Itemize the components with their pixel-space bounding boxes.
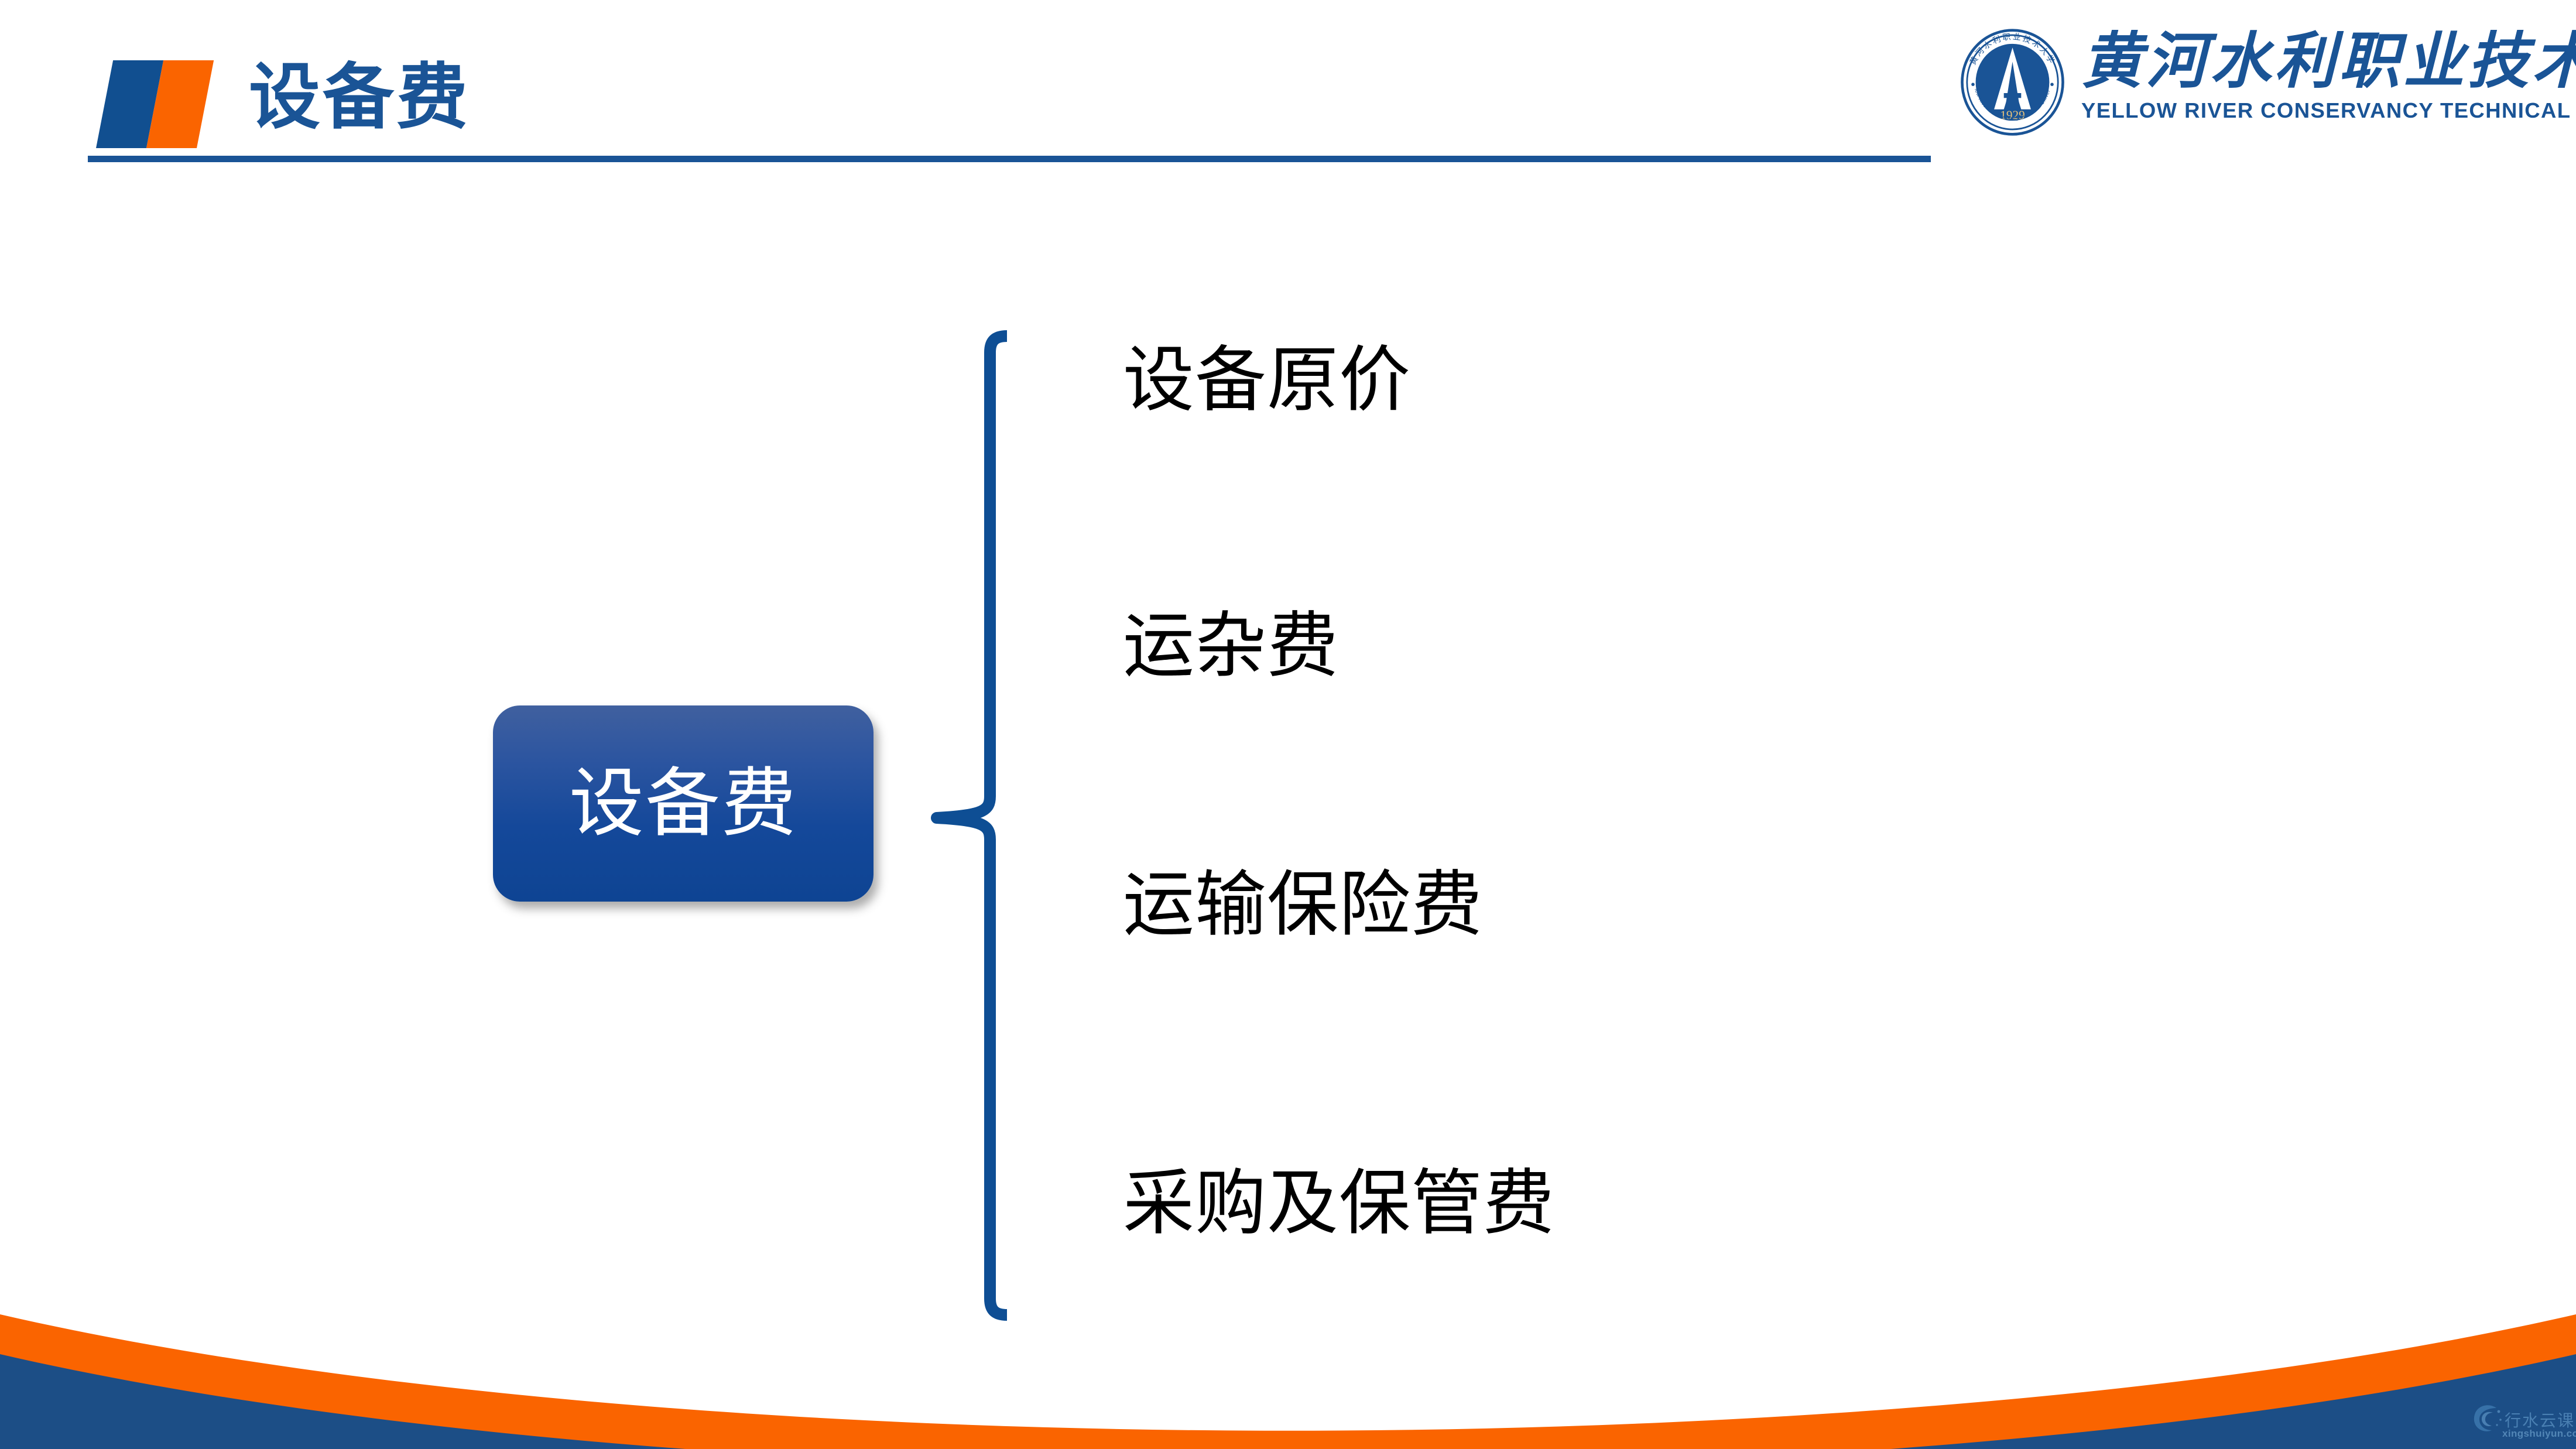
list-item[interactable]: 采购及保管费 bbox=[1123, 1167, 1555, 1239]
university-name-cn: 黄河水利职业技术大学 bbox=[2081, 29, 2550, 95]
list-item[interactable]: 设备原价 bbox=[1123, 344, 1411, 416]
diagram-root-label: 设备费 bbox=[569, 766, 797, 841]
header-divider bbox=[88, 156, 1931, 162]
footer-swoosh-decoration bbox=[0, 1297, 2576, 1449]
page-title: 设备费 bbox=[249, 56, 470, 138]
university-name-block: 黄河水利职业技术大学 YELLOW RIVER CONSERVANCY TECH… bbox=[2081, 29, 2550, 123]
university-seal-icon: 1929 黄河水利职业技术大学 Yellow River Conservancy… bbox=[1958, 28, 2067, 136]
slide-canvas: 设备费 1929 黄河水利职业技术大学 Yellow River Conserv… bbox=[0, 0, 2576, 1449]
diagram-root-node[interactable]: 设备费 bbox=[493, 705, 873, 902]
header-accent-bar bbox=[88, 60, 275, 148]
list-item[interactable]: 运杂费 bbox=[1123, 610, 1339, 681]
university-name-en: YELLOW RIVER CONSERVANCY TECHNICAL UNIVE… bbox=[2081, 98, 2550, 123]
watermark-url: xingshuiyun.com bbox=[2502, 1428, 2576, 1440]
diagram-children-list: 设备原价 运杂费 运输保险费 采购及保管费 bbox=[1123, 328, 2294, 1323]
university-logo: 1929 黄河水利职业技术大学 Yellow River Conservancy… bbox=[1958, 23, 2556, 141]
watermark: 行水云课 xingshuiyun.com bbox=[2469, 1399, 2568, 1444]
curly-brace-icon bbox=[931, 328, 1007, 1323]
list-item[interactable]: 运输保险费 bbox=[1123, 869, 1483, 940]
wave-logo-icon bbox=[2469, 1399, 2503, 1435]
